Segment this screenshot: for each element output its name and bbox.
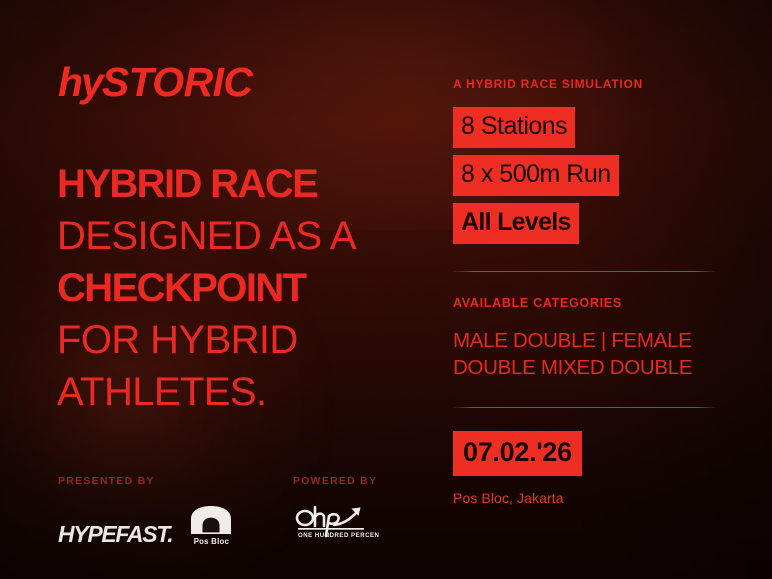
brand-logo-uppercase: STORIC	[102, 59, 253, 105]
credit-presented-by: PRESENTED BY HYPEFAST. Pos Bloc	[58, 475, 233, 546]
headline-line-1: HYBRID RACE	[57, 158, 457, 210]
pos-bloc-label: Pos Bloc	[189, 538, 233, 546]
chip-levels: All Levels	[453, 203, 579, 244]
divider-top	[453, 271, 716, 272]
chip-stations: 8 Stations	[453, 107, 575, 148]
chip-row: 8 Stations	[453, 107, 721, 148]
categories-heading: AVAILABLE CATEGORIES	[453, 296, 721, 310]
details-column: A HYBRID RACE SIMULATION 8 Stations 8 x …	[453, 77, 721, 506]
headline-line-4: FOR HYBRID	[57, 314, 457, 366]
details-chip-list: 8 Stations 8 x 500m Run All Levels	[453, 107, 721, 244]
event-date-badge: 07.02.'26	[453, 431, 582, 476]
poster-canvas: hySTORIC HYBRID RACE DESIGNED AS A CHECK…	[0, 0, 772, 579]
headline-line-2: DESIGNED AS A	[57, 210, 457, 262]
credit-presented-label: PRESENTED BY	[58, 475, 233, 487]
chip-row: 8 x 500m Run	[453, 155, 721, 196]
chip-row: All Levels	[453, 203, 721, 244]
brand-logo-lowercase: hy	[58, 59, 102, 105]
headline: HYBRID RACE DESIGNED AS A CHECKPOINT FOR…	[57, 158, 457, 418]
credit-powered-label: POWERED BY	[293, 475, 379, 487]
categories-line-1: MALE DOUBLE | FEMALE	[453, 327, 721, 354]
headline-line-5: ATHLETES.	[57, 366, 457, 418]
pos-bloc-logo: Pos Bloc	[189, 505, 233, 546]
chip-run-distance: 8 x 500m Run	[453, 155, 619, 196]
details-eyebrow: A HYBRID RACE SIMULATION	[453, 77, 721, 91]
categories-line-2: DOUBLE MIXED DOUBLE	[453, 354, 721, 381]
credit-presented-logos: HYPEFAST. Pos Bloc	[58, 505, 233, 546]
event-venue: Pos Bloc, Jakarta	[453, 490, 721, 506]
headline-line-3: CHECKPOINT	[57, 262, 457, 314]
one-hundred-percent-logo: ONE HUNDRED PERCENT	[293, 505, 379, 544]
ohp-script-mark: ONE HUNDRED PERCENT	[293, 505, 379, 539]
pos-bloc-arch-icon	[189, 505, 233, 535]
hypefast-logo: HYPEFAST.	[58, 523, 172, 546]
credit-powered-by: POWERED BY	[293, 475, 379, 544]
divider-bottom	[453, 407, 716, 408]
brand-logo: hySTORIC	[58, 62, 252, 103]
categories-list: MALE DOUBLE | FEMALE DOUBLE MIXED DOUBLE	[453, 327, 721, 381]
credit-powered-logos: ONE HUNDRED PERCENT	[293, 505, 379, 544]
ohp-wordmark: ONE HUNDRED PERCENT	[298, 532, 379, 539]
